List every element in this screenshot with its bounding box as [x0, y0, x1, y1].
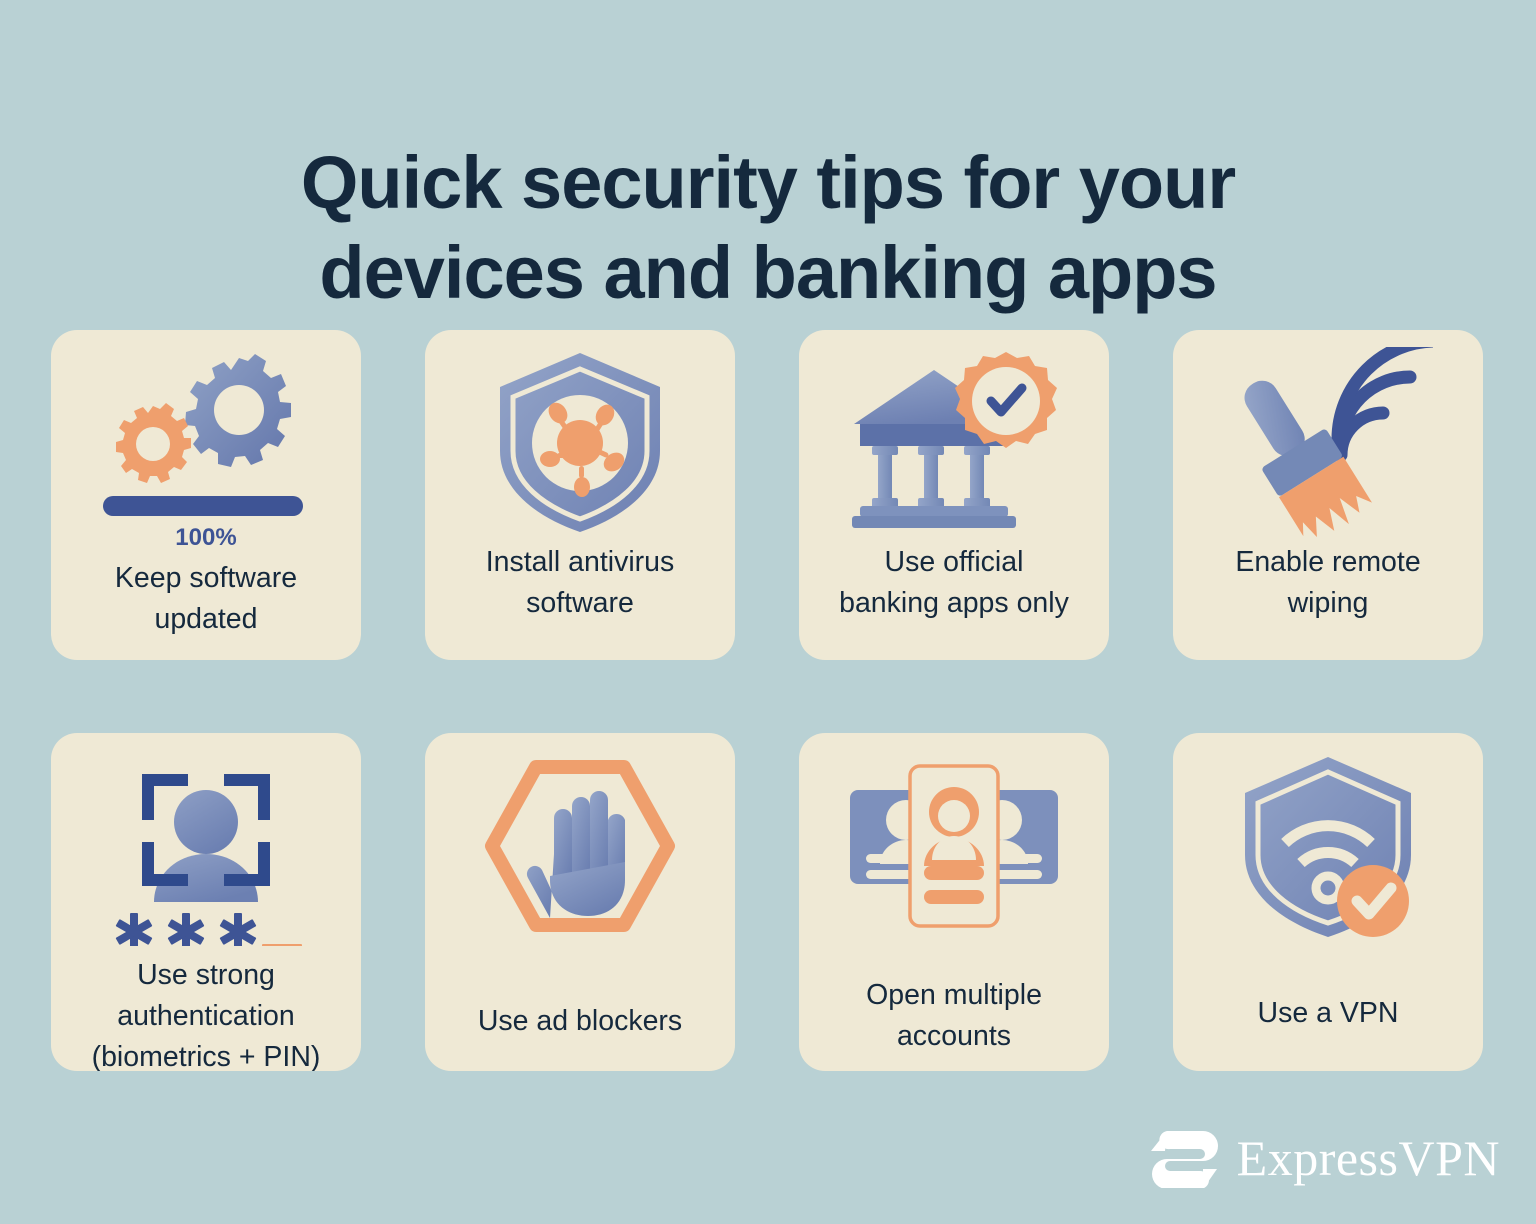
gears-progress-icon — [51, 330, 361, 536]
tip-card-label: Keep software updated — [107, 558, 305, 640]
tip-card-use-strong-authentication[interactable]: Use strong authentication (biometrics + … — [51, 733, 361, 1071]
shield-wifi-check-icon — [1173, 733, 1483, 945]
tip-card-use-ad-blockers[interactable]: Use ad blockers — [425, 733, 735, 1071]
bank-verified-icon — [799, 330, 1109, 536]
tip-card-use-a-vpn[interactable]: Use a VPN — [1173, 733, 1483, 1071]
tip-card-enable-remote-wiping[interactable]: Enable remote wiping — [1173, 330, 1483, 660]
tips-grid: 100% Keep software updated — [51, 330, 1485, 1071]
shield-virus-icon — [425, 330, 735, 536]
tip-card-label: Use official banking apps only — [831, 542, 1077, 624]
multiple-id-cards-icon — [799, 733, 1109, 945]
tip-card-open-multiple-accounts[interactable]: Open multiple accounts — [799, 733, 1109, 1071]
tip-card-label: Install antivirus software — [478, 542, 683, 624]
tip-card-keep-software-updated[interactable]: 100% Keep software updated — [51, 330, 361, 660]
tip-card-label: Open multiple accounts — [858, 975, 1050, 1057]
hexagon-hand-stop-icon — [425, 733, 735, 945]
expressvpn-logo-icon — [1147, 1128, 1221, 1188]
face-scan-pin-icon — [51, 733, 361, 945]
expressvpn-branding: ExpressVPN — [1147, 1128, 1500, 1188]
tip-card-label: Enable remote wiping — [1227, 542, 1428, 624]
tip-card-install-antivirus-software[interactable]: Install antivirus software — [425, 330, 735, 660]
infographic-page: Quick security tips for your devices and… — [0, 0, 1536, 1224]
tip-card-label: Use strong authentication (biometrics + … — [84, 955, 329, 1071]
progress-value-label: 100% — [175, 524, 236, 552]
tip-card-label: Use ad blockers — [470, 1001, 690, 1042]
brush-wireless-icon — [1173, 330, 1483, 536]
tip-card-use-official-banking-apps-only[interactable]: Use official banking apps only — [799, 330, 1109, 660]
page-title: Quick security tips for your devices and… — [0, 138, 1536, 318]
expressvpn-wordmark: ExpressVPN — [1237, 1133, 1500, 1183]
tip-card-label: Use a VPN — [1250, 993, 1407, 1034]
